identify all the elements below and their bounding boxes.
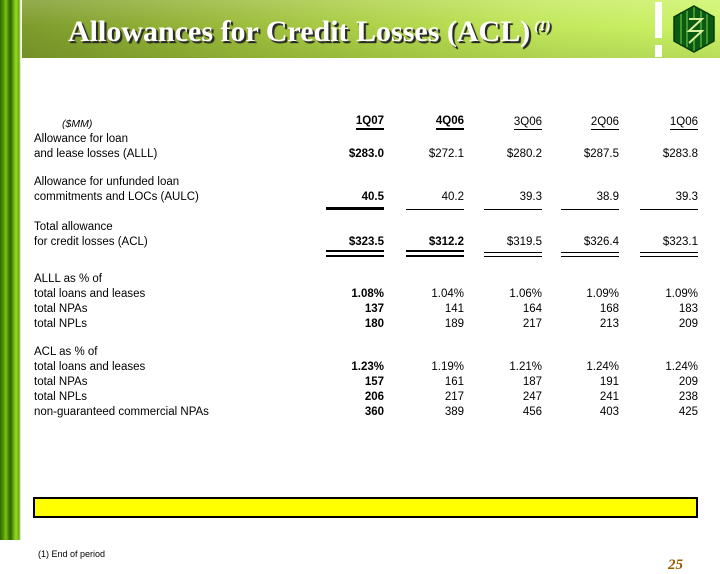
cell-value: 403 xyxy=(542,403,619,418)
row-spacer xyxy=(34,160,698,173)
cell-value: 39.3 xyxy=(619,188,698,203)
row-label: total loans and leases xyxy=(34,358,298,373)
cell-value: 40.5 xyxy=(298,188,384,203)
column-header-4: 2Q06 xyxy=(542,115,619,130)
row-label: total NPLs xyxy=(34,388,298,403)
cell-value: 389 xyxy=(384,403,464,418)
title-band: Allowances for Credit Losses (ACL)(1) xyxy=(22,0,720,58)
financial-table: ($MM) 1Q07 4Q06 3Q06 2Q06 1Q06 Allowance… xyxy=(34,115,698,418)
column-header-2-label: 4Q06 xyxy=(436,115,464,130)
divider-bar-bottom xyxy=(655,45,662,57)
unit-label-cell: ($MM) xyxy=(34,115,298,130)
cell-value: 217 xyxy=(464,315,542,330)
column-header-5: 1Q06 xyxy=(619,115,698,130)
column-header-1-label: 1Q07 xyxy=(356,115,384,130)
cell-value: 38.9 xyxy=(542,188,619,203)
cell-value: 1.06% xyxy=(464,285,542,300)
cell-value: 1.09% xyxy=(619,285,698,300)
cell-value: 157 xyxy=(298,373,384,388)
table-row: Allowance for loan xyxy=(34,130,698,145)
table-row: commitments and LOCs (AULC) 40.5 40.2 39… xyxy=(34,188,698,203)
cell-value: 1.23% xyxy=(298,358,384,373)
section-heading-row: ACL as % of xyxy=(34,343,698,358)
cell-value: 213 xyxy=(542,315,619,330)
table-row: and lease losses (ALLL) $283.0 $272.1 $2… xyxy=(34,145,698,160)
row-label: total loans and leases xyxy=(34,285,298,300)
table-row: total NPLs 180 189 217 213 209 xyxy=(34,315,698,330)
cell-value: $272.1 xyxy=(384,145,464,160)
column-header-3: 3Q06 xyxy=(464,115,542,130)
cell-value: 168 xyxy=(542,300,619,315)
cell-value: $323.1 xyxy=(619,233,698,248)
cell-value: $326.4 xyxy=(542,233,619,248)
cell-value: 164 xyxy=(464,300,542,315)
cell-value: 1.24% xyxy=(542,358,619,373)
cell-value: 40.2 xyxy=(384,188,464,203)
cell-value: $323.5 xyxy=(298,233,384,248)
column-header-2: 4Q06 xyxy=(384,115,464,130)
row-label-line2: for credit losses (ACL) xyxy=(34,233,298,248)
column-header-4-label: 2Q06 xyxy=(591,116,619,130)
cell-value: 238 xyxy=(619,388,698,403)
section-heading: ACL as % of xyxy=(34,343,298,358)
cell-value: $283.8 xyxy=(619,145,698,160)
table-row: total loans and leases 1.23% 1.19% 1.21%… xyxy=(34,358,698,373)
cell-value: 206 xyxy=(298,388,384,403)
row-label-line1: Allowance for unfunded loan xyxy=(34,173,298,188)
row-label: total NPLs xyxy=(34,315,298,330)
table-row-highlighted: non-guaranteed commercial NPAs 360 389 4… xyxy=(34,403,698,418)
row-label-line2: commitments and LOCs (AULC) xyxy=(34,188,298,203)
cell-value: $287.5 xyxy=(542,145,619,160)
cell-value: $283.0 xyxy=(298,145,384,160)
cell-value: 1.21% xyxy=(464,358,542,373)
cell-value: 217 xyxy=(384,388,464,403)
cell-value: 137 xyxy=(298,300,384,315)
footnote: (1) End of period xyxy=(38,549,105,559)
cell-value: 425 xyxy=(619,403,698,418)
cell-value: $280.2 xyxy=(464,145,542,160)
cell-value: 241 xyxy=(542,388,619,403)
cell-value: 1.09% xyxy=(542,285,619,300)
cell-value: $312.2 xyxy=(384,233,464,248)
row-label-line1: Allowance for loan xyxy=(34,130,298,145)
table-row: total NPLs 206 217 247 241 238 xyxy=(34,388,698,403)
cell-value: 180 xyxy=(298,315,384,330)
cell-value: 1.04% xyxy=(384,285,464,300)
cell-value: 161 xyxy=(384,373,464,388)
row-label-line2: and lease losses (ALLL) xyxy=(34,145,298,160)
divider-bar-top xyxy=(655,2,662,38)
cell-value: 209 xyxy=(619,315,698,330)
hexagon-logo xyxy=(672,5,716,53)
page-title-text: Allowances for Credit Losses (ACL) xyxy=(68,15,530,48)
cell-value: 187 xyxy=(464,373,542,388)
row-spacer xyxy=(34,257,698,270)
row-label: total NPAs xyxy=(34,300,298,315)
table-row: Total allowance xyxy=(34,218,698,233)
subtotal-rule xyxy=(34,203,698,210)
cell-value: $319.5 xyxy=(464,233,542,248)
table-row: total loans and leases 1.08% 1.04% 1.06%… xyxy=(34,285,698,300)
page-title: Allowances for Credit Losses (ACL)(1) xyxy=(68,7,551,52)
table-row: total NPAs 137 141 164 168 183 xyxy=(34,300,698,315)
row-spacer xyxy=(34,330,698,343)
page-number: 25 xyxy=(668,557,683,574)
highlight-box xyxy=(33,497,698,518)
table-row: total NPAs 157 161 187 191 209 xyxy=(34,373,698,388)
column-header-5-label: 1Q06 xyxy=(670,116,698,130)
section-heading-row: ALLL as % of xyxy=(34,270,698,285)
row-label: non-guaranteed commercial NPAs xyxy=(34,403,298,418)
cell-value: 141 xyxy=(384,300,464,315)
cell-value: 360 xyxy=(298,403,384,418)
row-spacer xyxy=(34,210,698,218)
table-row: for credit losses (ACL) $323.5 $312.2 $3… xyxy=(34,233,698,248)
unit-label: ($MM) xyxy=(34,118,92,130)
section-heading: ALLL as % of xyxy=(34,270,298,285)
column-header-3-label: 3Q06 xyxy=(514,116,542,130)
content-area: ($MM) 1Q07 4Q06 3Q06 2Q06 1Q06 Allowance… xyxy=(0,58,720,540)
cell-value: 1.19% xyxy=(384,358,464,373)
cell-value: 456 xyxy=(464,403,542,418)
table-row: Allowance for unfunded loan xyxy=(34,173,698,188)
cell-value: 247 xyxy=(464,388,542,403)
total-double-rule xyxy=(34,248,698,257)
cell-value: 39.3 xyxy=(464,188,542,203)
row-label-line1: Total allowance xyxy=(34,218,298,233)
table-header-row: ($MM) 1Q07 4Q06 3Q06 2Q06 1Q06 xyxy=(34,115,698,130)
cell-value: 189 xyxy=(384,315,464,330)
cell-value: 1.08% xyxy=(298,285,384,300)
cell-value: 1.24% xyxy=(619,358,698,373)
row-label: total NPAs xyxy=(34,373,298,388)
title-footnote-marker: (1) xyxy=(534,19,550,34)
cell-value: 209 xyxy=(619,373,698,388)
cell-value: 183 xyxy=(619,300,698,315)
cell-value: 191 xyxy=(542,373,619,388)
column-header-1: 1Q07 xyxy=(298,115,384,130)
